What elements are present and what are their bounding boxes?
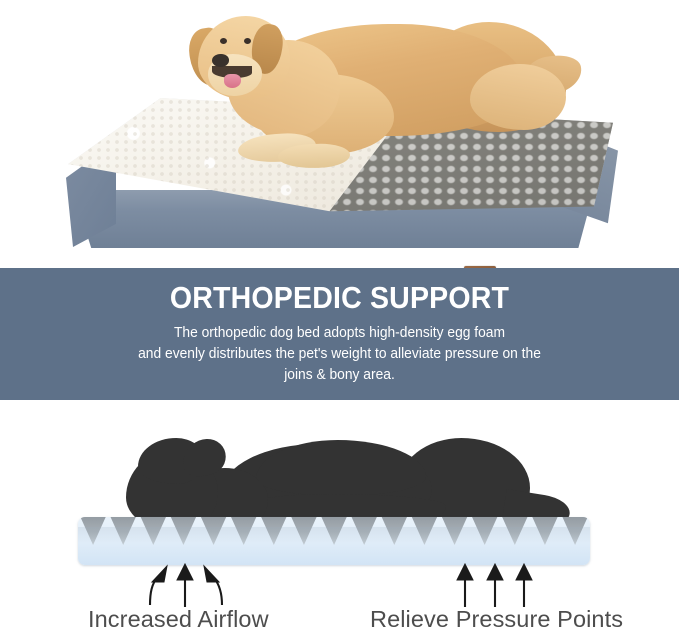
foam-tooth bbox=[440, 517, 470, 545]
foam-tooth bbox=[560, 517, 590, 545]
caption-increased-airflow: Increased Airflow bbox=[88, 606, 269, 633]
dog-right-eye bbox=[244, 38, 251, 44]
dog-hind-leg bbox=[470, 64, 566, 130]
foam-tooth bbox=[78, 517, 108, 545]
dog-nose bbox=[212, 54, 229, 67]
foam-tooth bbox=[199, 517, 229, 545]
banner-line-2: and evenly distributes the pet's weight … bbox=[64, 344, 616, 365]
foam-tooth bbox=[379, 517, 409, 545]
product-photo-section bbox=[0, 0, 679, 268]
foam-slab-teeth bbox=[78, 517, 590, 545]
foam-tooth bbox=[289, 517, 319, 545]
dog-front-paw-right bbox=[278, 143, 351, 169]
product-photo bbox=[0, 0, 679, 268]
dog-left-eye bbox=[220, 38, 227, 44]
banner-title: ORTHOPEDIC SUPPORT bbox=[27, 282, 652, 315]
caption-relieve-pressure-points: Relieve Pressure Points bbox=[370, 606, 623, 633]
foam-tooth bbox=[349, 517, 379, 545]
orthopedic-support-banner: ORTHOPEDIC SUPPORT The orthopedic dog be… bbox=[0, 268, 679, 400]
banner-line-3: joins & bony area. bbox=[64, 365, 616, 386]
foam-tooth bbox=[530, 517, 560, 545]
foam-tooth bbox=[229, 517, 259, 545]
foam-tooth bbox=[259, 517, 289, 545]
foam-tooth bbox=[470, 517, 500, 545]
foam-tooth bbox=[108, 517, 138, 545]
golden-retriever-photo bbox=[150, 2, 570, 202]
foam-tooth bbox=[168, 517, 198, 545]
banner-line-1: The orthopedic dog bed adopts high-densi… bbox=[64, 323, 616, 344]
foam-tooth bbox=[500, 517, 530, 545]
banner-description: The orthopedic dog bed adopts high-densi… bbox=[14, 323, 666, 387]
foam-tooth bbox=[409, 517, 439, 545]
foam-tooth bbox=[319, 517, 349, 545]
foam-tooth bbox=[138, 517, 168, 545]
